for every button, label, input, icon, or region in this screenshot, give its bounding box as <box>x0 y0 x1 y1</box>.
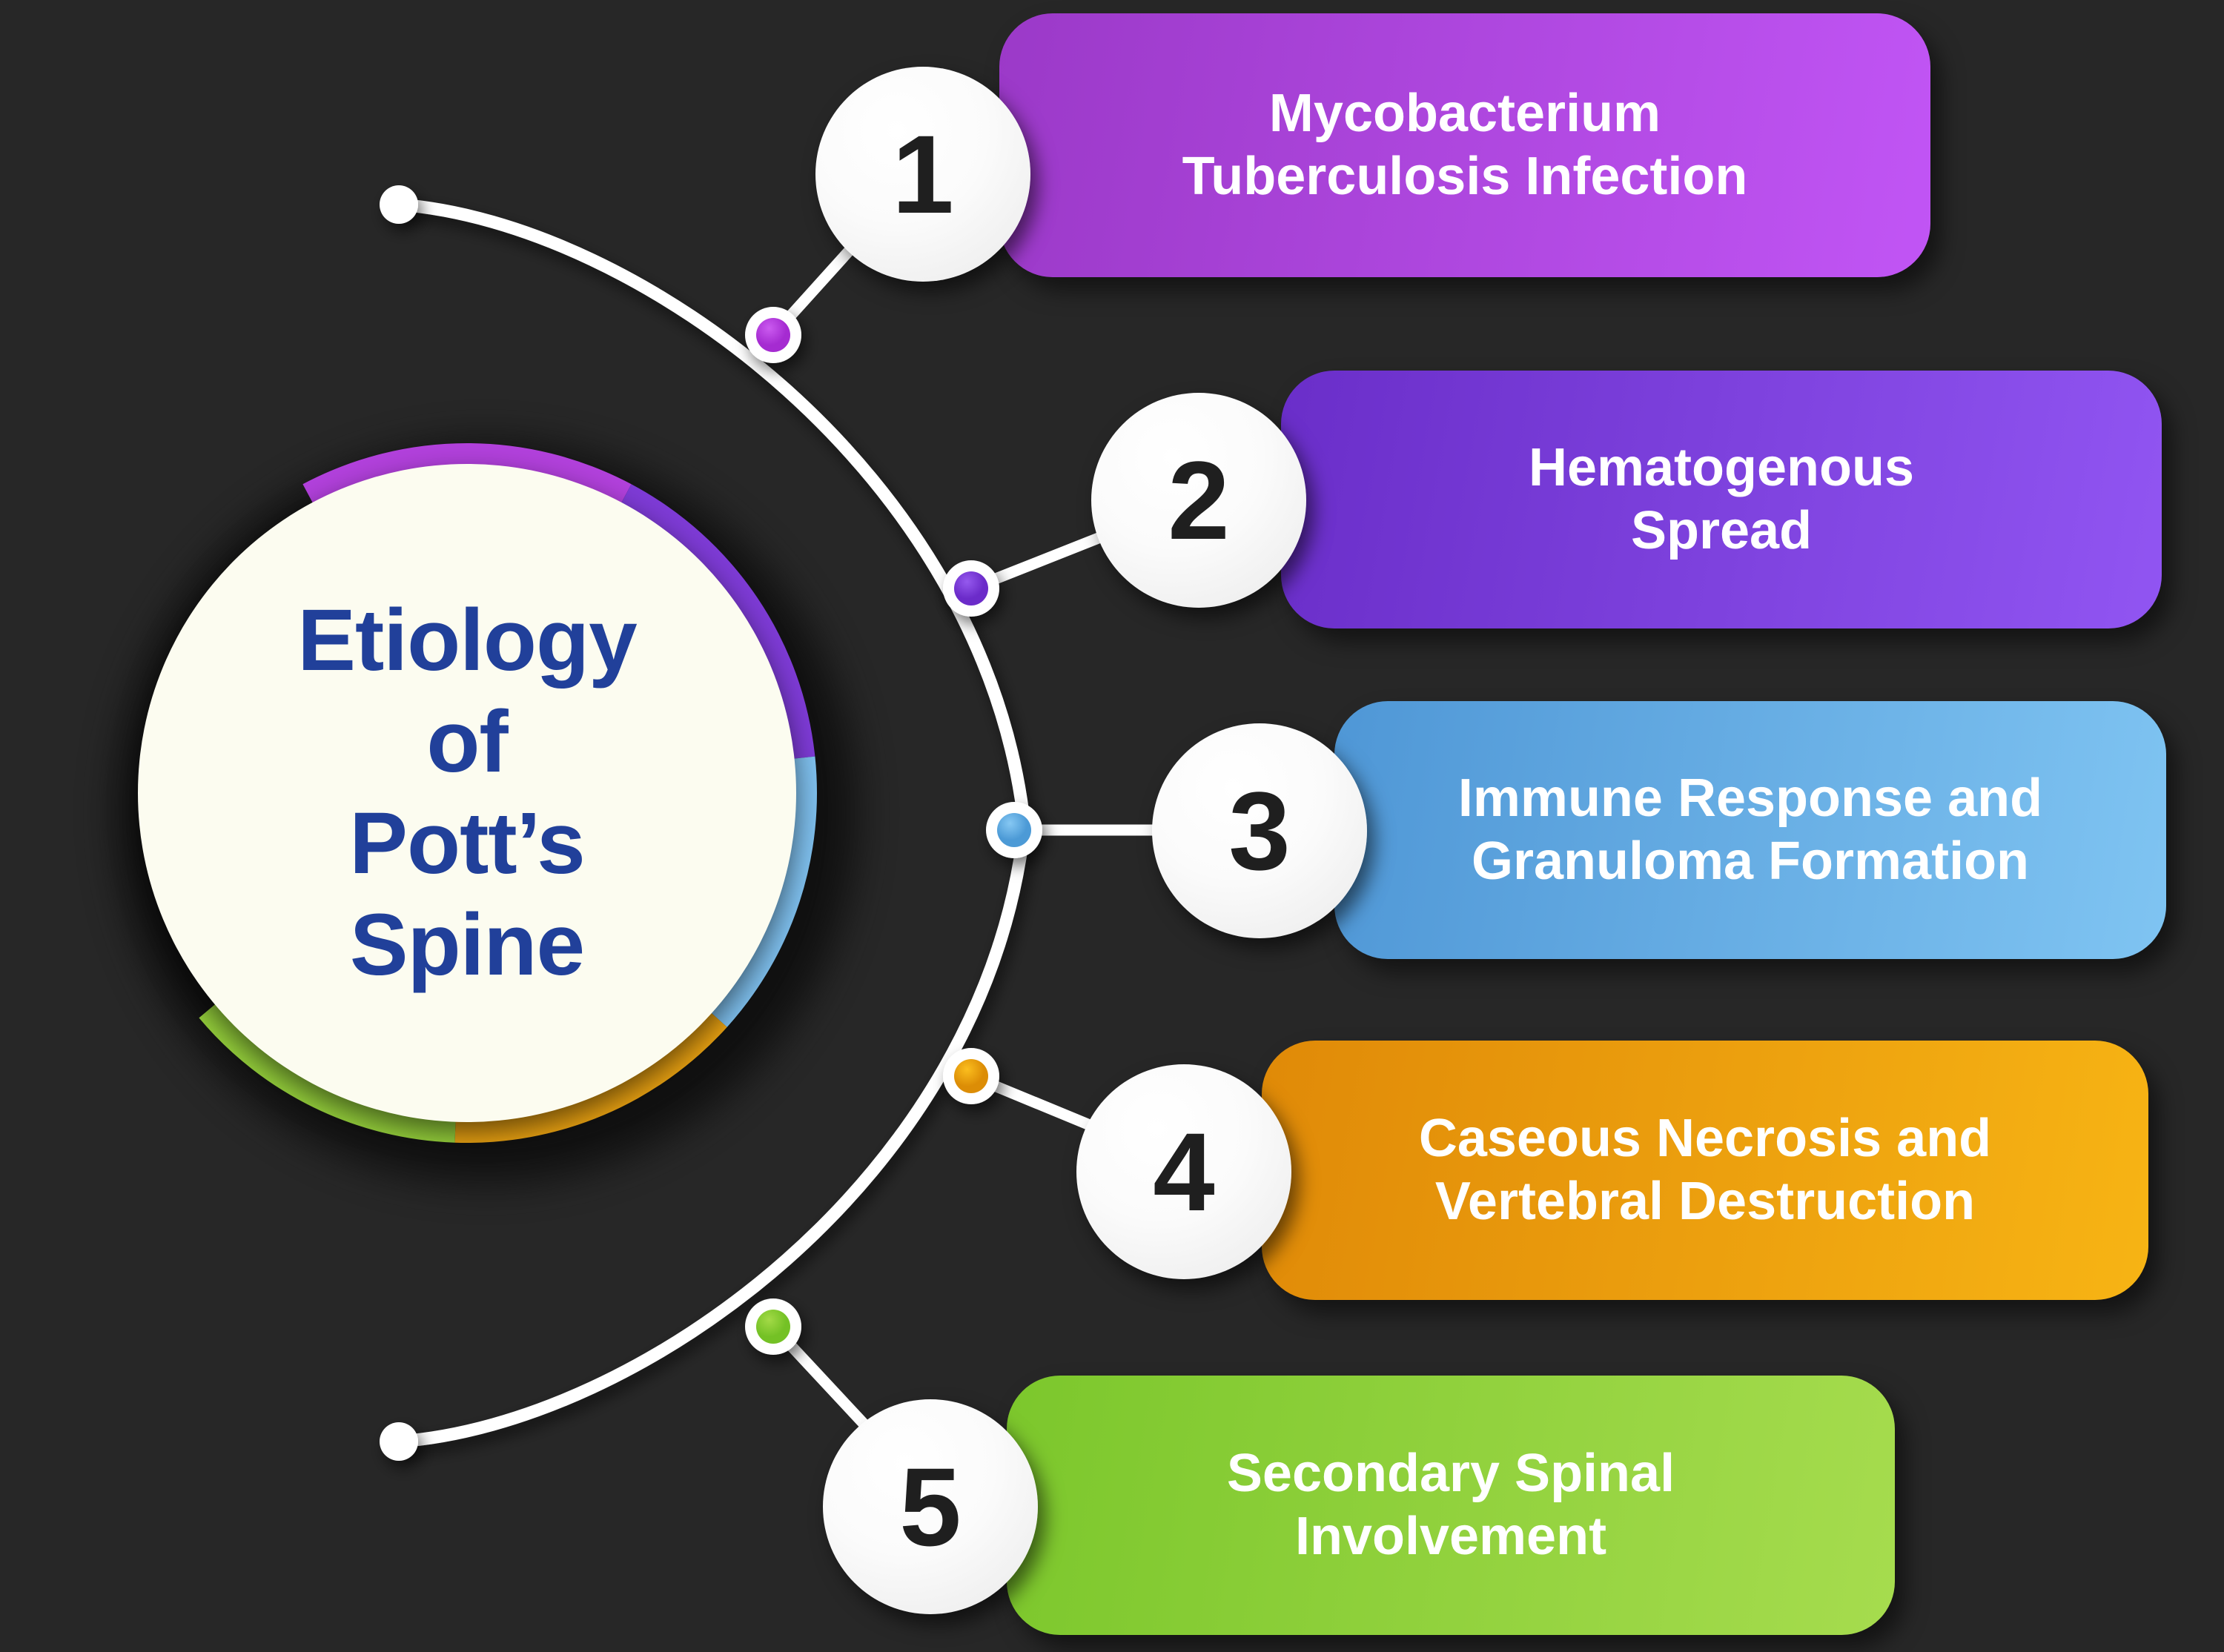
step-node-1[interactable] <box>745 307 801 363</box>
step-label-5-line-2: Involvement <box>1050 1505 1852 1568</box>
step-pill-3[interactable]: Immune Response and Granuloma Formation <box>1334 701 2166 959</box>
step-label-2-line-2: Spread <box>1324 500 2119 563</box>
step-number-3-text: 3 <box>1228 767 1290 895</box>
step-label-5-line-1: Secondary Spinal <box>1050 1442 1852 1505</box>
hub-center: Etiology of Pott’s Spine <box>138 464 796 1122</box>
step-node-5[interactable] <box>745 1298 801 1355</box>
step-label-1-line-1: Mycobacterium <box>1042 82 1887 145</box>
step-label-4-line-1: Caseous Necrosis and <box>1305 1107 2105 1170</box>
step-label-2: Hematogenous Spread <box>1324 437 2119 563</box>
step-label-3-line-1: Immune Response and <box>1377 767 2123 830</box>
step-label-2-line-1: Hematogenous <box>1324 437 2119 500</box>
spine-start-dot <box>380 185 418 224</box>
step-number-1[interactable]: 1 <box>815 67 1030 282</box>
hub-title-line-3: Pott’s <box>297 793 636 895</box>
step-label-1: Mycobacterium Tuberculosis Infection <box>1042 82 1887 208</box>
step-number-4-text: 4 <box>1153 1108 1214 1236</box>
step-node-2[interactable] <box>943 560 999 617</box>
step-number-2-text: 2 <box>1168 437 1229 565</box>
step-label-3-line-2: Granuloma Formation <box>1377 830 2123 893</box>
step-number-4[interactable]: 4 <box>1076 1064 1291 1279</box>
step-pill-5[interactable]: Secondary Spinal Involvement <box>1007 1376 1895 1635</box>
hub-title-line-2: of <box>297 691 636 793</box>
step-node-4[interactable] <box>943 1048 999 1104</box>
step-label-5: Secondary Spinal Involvement <box>1050 1442 1852 1568</box>
hub-title-line-4: Spine <box>297 895 636 996</box>
spine-end-dot <box>380 1422 418 1461</box>
hub-title: Etiology of Pott’s Spine <box>297 590 636 996</box>
step-node-3[interactable] <box>986 802 1042 858</box>
step-number-5[interactable]: 5 <box>823 1399 1038 1614</box>
step-pill-2[interactable]: Hematogenous Spread <box>1281 371 2162 628</box>
hub-title-line-1: Etiology <box>297 590 636 691</box>
step-number-2[interactable]: 2 <box>1091 393 1306 608</box>
step-label-3: Immune Response and Granuloma Formation <box>1377 767 2123 893</box>
step-number-5-text: 5 <box>899 1443 961 1571</box>
central-hub: Etiology of Pott’s Spine <box>96 422 838 1164</box>
step-label-1-line-2: Tuberculosis Infection <box>1042 145 1887 208</box>
infographic-canvas: Etiology of Pott’s Spine Mycobacterium T… <box>0 0 2224 1652</box>
step-label-4-line-2: Vertebral Destruction <box>1305 1170 2105 1233</box>
step-label-4: Caseous Necrosis and Vertebral Destructi… <box>1305 1107 2105 1233</box>
step-pill-4[interactable]: Caseous Necrosis and Vertebral Destructi… <box>1262 1041 2148 1300</box>
step-number-1-text: 1 <box>892 110 953 239</box>
step-pill-1[interactable]: Mycobacterium Tuberculosis Infection <box>999 13 1930 277</box>
step-number-3[interactable]: 3 <box>1152 723 1367 938</box>
